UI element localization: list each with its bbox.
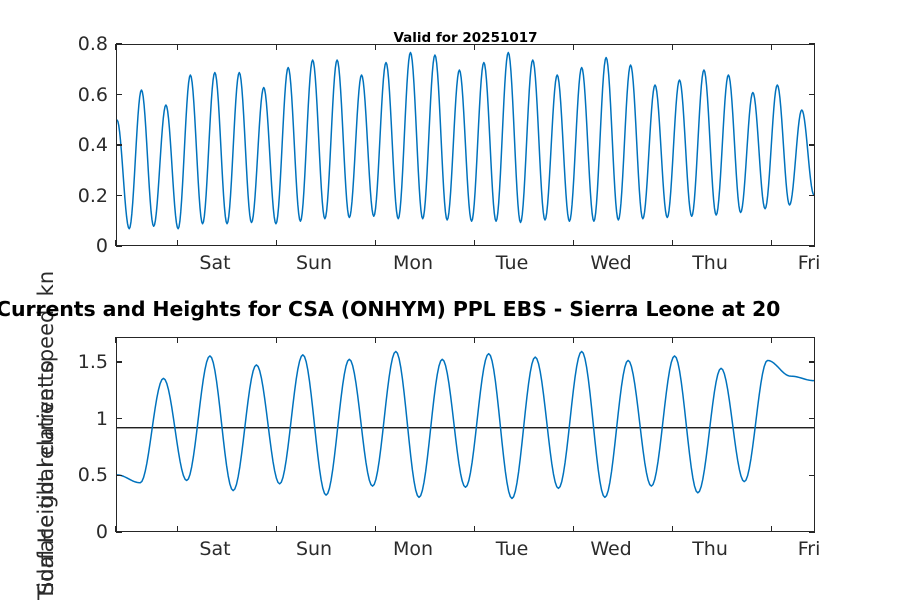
x-tick-mark [672, 526, 673, 532]
y-tick-mark [809, 94, 815, 95]
x-tick-label: Thu [692, 538, 728, 560]
y-tick-mark [116, 94, 122, 95]
x-tick-mark [573, 337, 574, 343]
figure-canvas: Valid for 20251017 Surface tidal current… [0, 0, 900, 600]
x-tick-label: Fri [798, 538, 821, 560]
y-tick-mark [116, 43, 122, 44]
x-tick-label: Sat [199, 538, 230, 560]
x-tick-mark [672, 337, 673, 343]
x-tick-label: Sun [296, 538, 332, 560]
x-tick-mark [375, 44, 376, 50]
y-tick-label: 0 [24, 235, 108, 257]
x-tick-mark [573, 240, 574, 246]
chart-panel-current-speed [116, 44, 815, 246]
y-tick-mark [809, 43, 815, 44]
y-tick-label: 0.5 [24, 464, 108, 486]
x-tick-mark [474, 44, 475, 50]
y-tick-label: 1.5 [24, 351, 108, 373]
current-speed-line [117, 52, 814, 228]
y-tick-label: 0 [24, 521, 108, 543]
x-tick-label: Thu [692, 252, 728, 274]
x-tick-mark [177, 337, 178, 343]
x-tick-mark [115, 240, 116, 246]
x-tick-mark [672, 44, 673, 50]
x-tick-mark [672, 240, 673, 246]
x-tick-mark [115, 526, 116, 532]
x-tick-mark [276, 337, 277, 343]
y-tick-label: 0.2 [24, 185, 108, 207]
y-tick-mark [116, 418, 122, 419]
x-tick-mark [375, 526, 376, 532]
x-tick-mark [177, 44, 178, 50]
x-tick-label: Tue [496, 538, 528, 560]
current-speed-plot-svg [117, 45, 814, 245]
tidal-height-line [117, 351, 814, 498]
x-tick-label: Tue [496, 252, 528, 274]
x-tick-mark [474, 240, 475, 246]
y-tick-mark [116, 245, 122, 246]
y-tick-mark [809, 475, 815, 476]
y-tick-mark [809, 361, 815, 362]
y-tick-mark [116, 361, 122, 362]
y-tick-mark [809, 418, 815, 419]
x-tick-mark [573, 526, 574, 532]
page-title: Currents and Heights for CSA (ONHYM) PPL… [0, 297, 900, 321]
y-tick-mark [116, 195, 122, 196]
x-tick-mark [115, 337, 116, 343]
y-tick-label: 0.4 [24, 134, 108, 156]
y-tick-mark [809, 144, 815, 145]
x-tick-mark [771, 526, 772, 532]
tidal-height-plot-svg [117, 338, 814, 531]
y-tick-mark [809, 531, 815, 532]
x-tick-mark [771, 44, 772, 50]
x-tick-label: Mon [393, 538, 433, 560]
x-tick-mark [276, 44, 277, 50]
x-tick-label: Fri [798, 252, 821, 274]
x-tick-mark [573, 44, 574, 50]
y-tick-mark [809, 245, 815, 246]
x-tick-mark [177, 240, 178, 246]
y-tick-label: 0.8 [24, 33, 108, 55]
x-tick-label: Wed [590, 538, 631, 560]
x-tick-mark [276, 526, 277, 532]
x-tick-label: Sun [296, 252, 332, 274]
x-tick-mark [115, 44, 116, 50]
x-tick-mark [375, 337, 376, 343]
y-tick-label: 0.6 [24, 84, 108, 106]
x-tick-mark [771, 337, 772, 343]
y-tick-mark [116, 144, 122, 145]
y-tick-label: 1 [24, 408, 108, 430]
chart-panel-tidal-height [116, 337, 815, 532]
x-tick-label: Sat [199, 252, 230, 274]
x-tick-mark [474, 337, 475, 343]
x-tick-label: Mon [393, 252, 433, 274]
x-tick-mark [375, 240, 376, 246]
x-tick-mark [474, 526, 475, 532]
x-tick-mark [771, 240, 772, 246]
y-tick-mark [116, 475, 122, 476]
y-tick-mark [116, 531, 122, 532]
x-tick-label: Wed [590, 252, 631, 274]
y-tick-mark [809, 195, 815, 196]
x-tick-mark [276, 240, 277, 246]
x-tick-mark [177, 526, 178, 532]
